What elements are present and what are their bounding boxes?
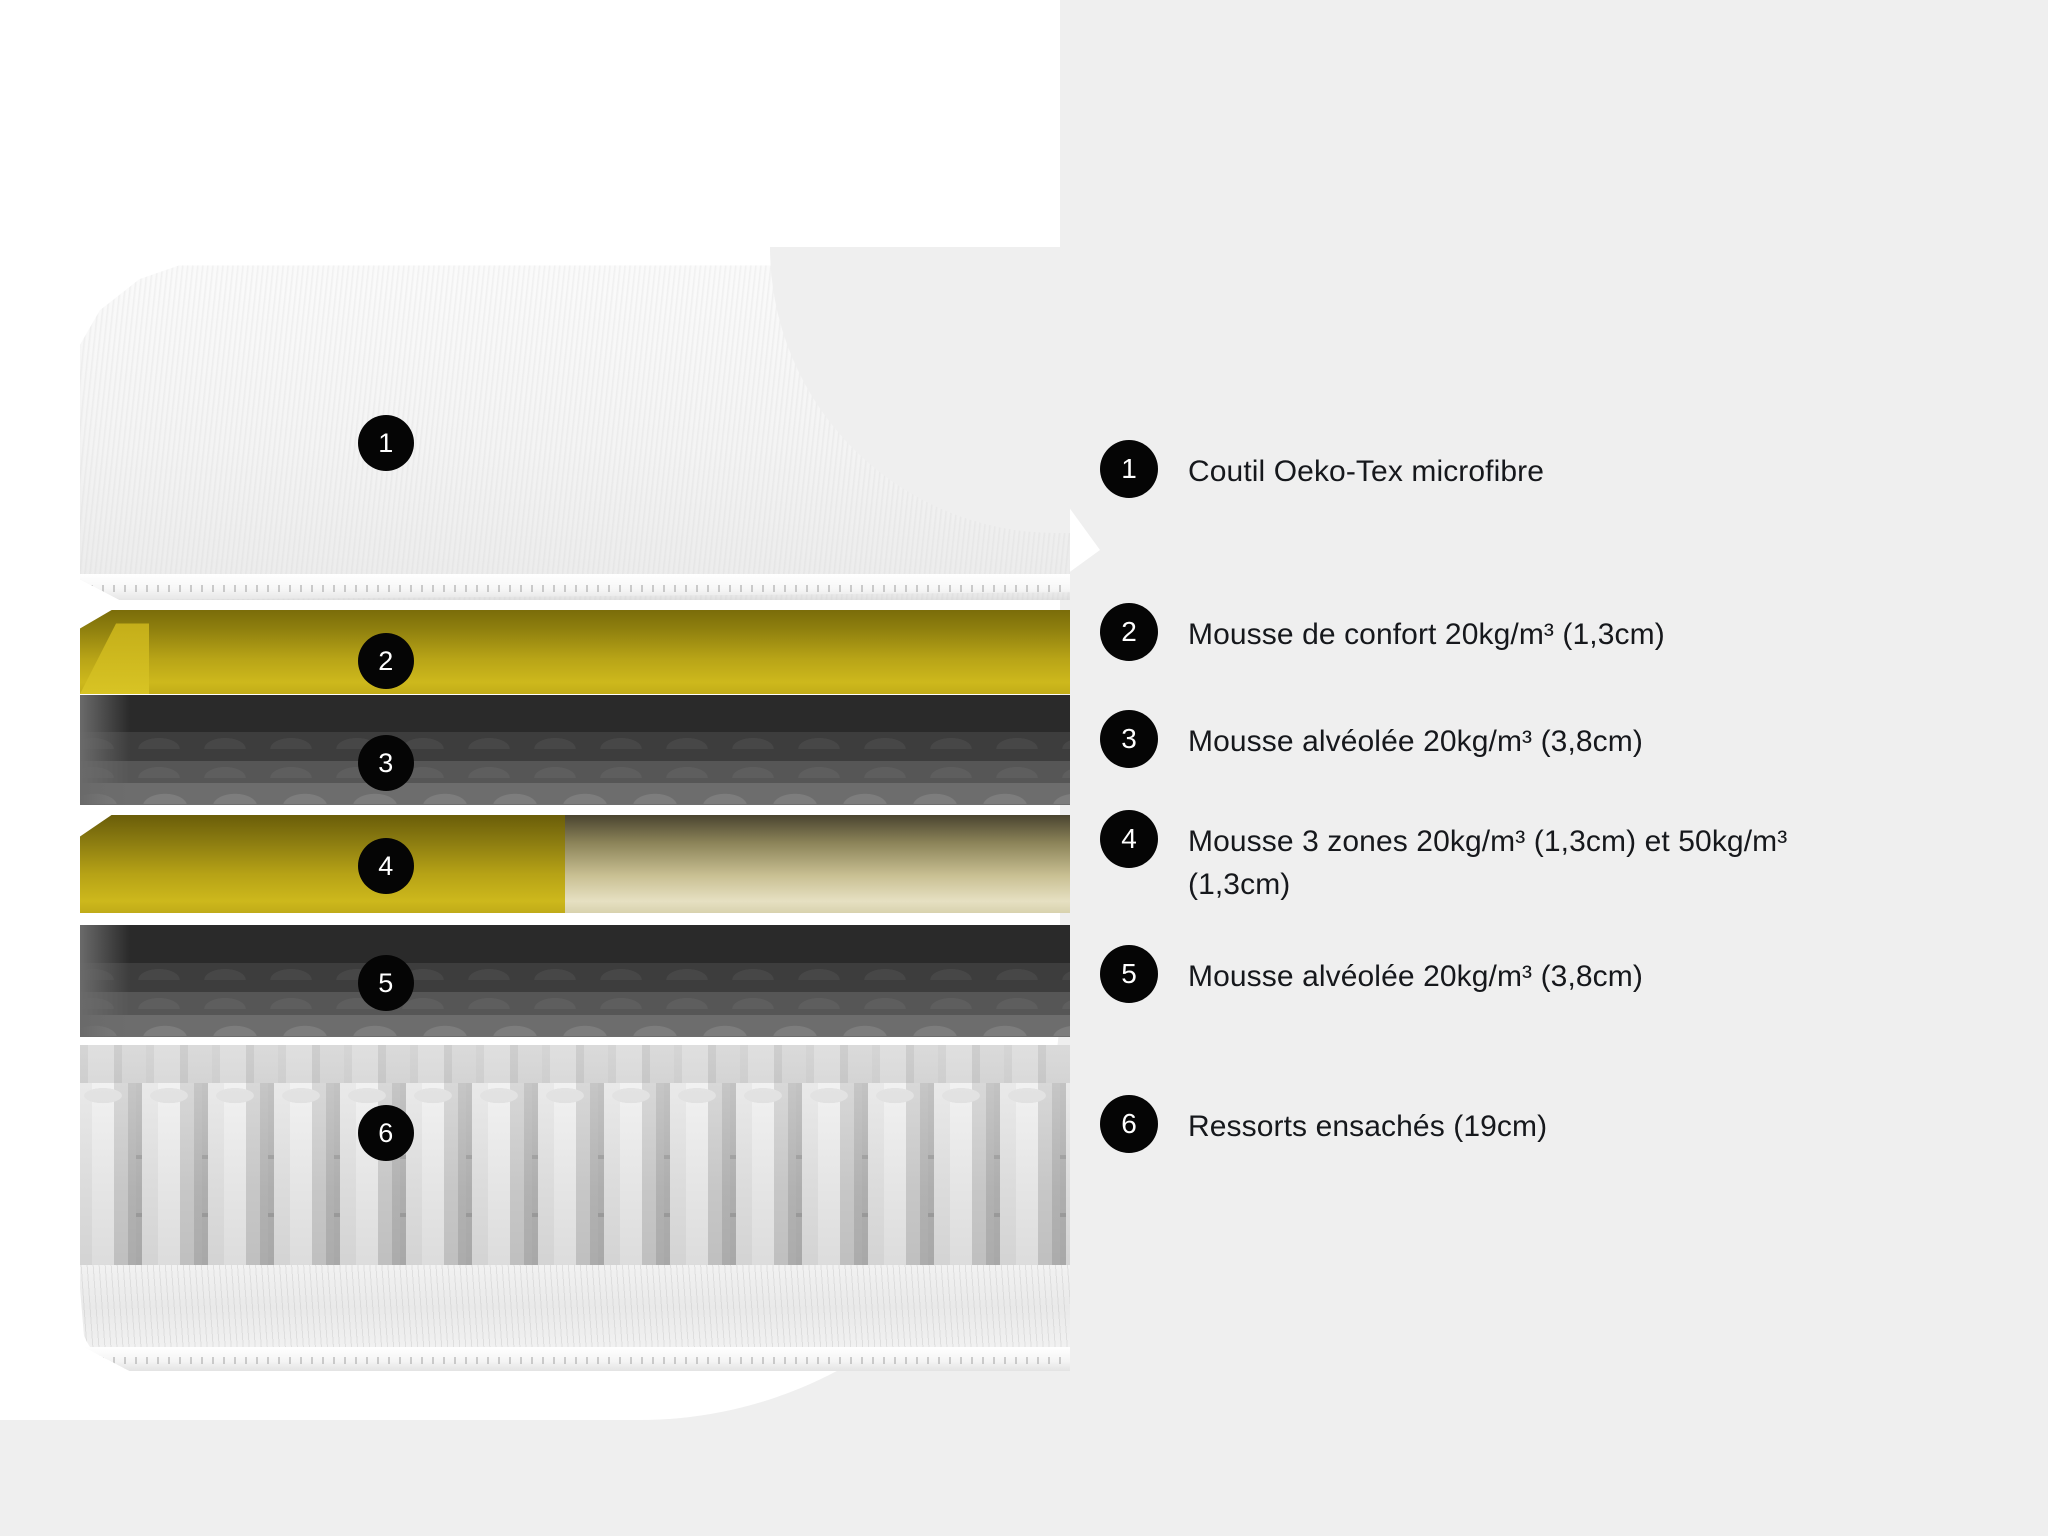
springs-shading [80, 1045, 1070, 1285]
legend-label-5: Mousse alvéolée 20kg/m³ (3,8cm) [1188, 945, 1643, 999]
image-badge-coutil: 1 [358, 415, 414, 471]
eggcrate-wave [80, 979, 1070, 1009]
eggcrate-left-edge [80, 925, 130, 1037]
legend-badge-2: 2 [1100, 603, 1158, 661]
mattress-cross-section-image: 123456 [80, 255, 1070, 1365]
image-badge-ressorts-ensaches: 6 [358, 1105, 414, 1161]
eggcrate-wave [80, 950, 1070, 980]
image-badge-mousse-de-confort: 2 [358, 633, 414, 689]
mousse-3-zones-yellow-section [80, 815, 565, 913]
legend-item-1: 1Coutil Oeko-Tex microfibre [1100, 440, 1544, 498]
background-bottom-strip [0, 1490, 1060, 1536]
legend-item-6: 6Ressorts ensachés (19cm) [1100, 1095, 1547, 1153]
layer-mousse-de-confort [80, 610, 1070, 694]
mousse-confort-slab [80, 610, 1070, 694]
base-piping-edge [80, 1347, 1070, 1371]
legend-badge-3: 3 [1100, 710, 1158, 768]
legend-label-2: Mousse de confort 20kg/m³ (1,3cm) [1188, 603, 1665, 657]
legend-badge-4: 4 [1100, 810, 1158, 868]
eggcrate-wave [80, 774, 1070, 804]
image-badge-mousse-alveolee-basse: 5 [358, 955, 414, 1011]
eggcrate-wave [80, 1006, 1070, 1036]
eggcrate-left-edge [80, 695, 130, 805]
legend-label-6: Ressorts ensachés (19cm) [1188, 1095, 1547, 1149]
mattress-base-fabric [80, 1265, 1070, 1371]
image-badge-mousse-3-zones: 4 [358, 838, 414, 894]
eggcrate-texture-lower [80, 925, 1070, 1037]
legend-label-1: Coutil Oeko-Tex microfibre [1188, 440, 1544, 494]
mattress-layers-infographic: 123456 1Coutil Oeko-Tex microfibre2Mouss… [0, 0, 2048, 1536]
mousse-3-zones-cream-section [565, 815, 1070, 913]
layer-ressorts-ensaches [80, 1045, 1070, 1285]
legend-item-5: 5Mousse alvéolée 20kg/m³ (3,8cm) [1100, 945, 1643, 1003]
layer-mousse-alveolee-basse [80, 925, 1070, 1037]
legend-item-4: 4Mousse 3 zones 20kg/m³ (1,3cm) et 50kg/… [1100, 810, 1828, 906]
eggcrate-wave [80, 719, 1070, 749]
image-badge-mousse-alveolee-haute: 3 [358, 735, 414, 791]
legend-item-3: 3Mousse alvéolée 20kg/m³ (3,8cm) [1100, 710, 1643, 768]
legend-item-2: 2Mousse de confort 20kg/m³ (1,3cm) [1100, 603, 1665, 661]
legend-label-3: Mousse alvéolée 20kg/m³ (3,8cm) [1188, 710, 1643, 764]
layer-mousse-3-zones [80, 815, 1070, 913]
layer-mousse-alveolee-haute [80, 695, 1070, 805]
legend-badge-5: 5 [1100, 945, 1158, 1003]
legend-label-4: Mousse 3 zones 20kg/m³ (1,3cm) et 50kg/m… [1188, 810, 1828, 906]
legend-badge-1: 1 [1100, 440, 1158, 498]
legend-badge-6: 6 [1100, 1095, 1158, 1153]
eggcrate-texture-upper [80, 695, 1070, 805]
